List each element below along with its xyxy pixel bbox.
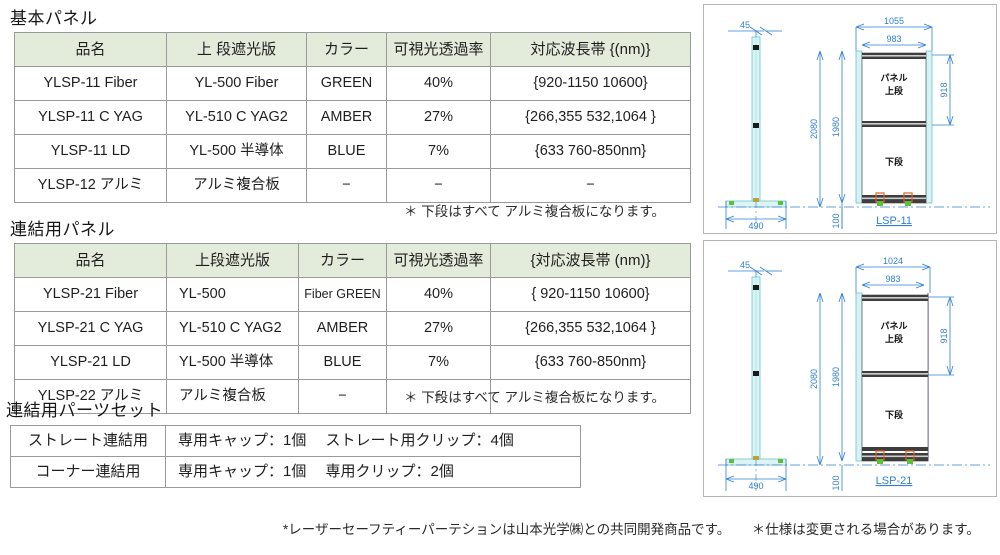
dim-side-base-width: 490: [748, 221, 763, 231]
lower-panel-label: 下段: [885, 156, 904, 167]
spec-tables-column: 基本パネル 品名 上 段遮光版 カラー 可視光透過率 対応波長帯 {(nm)} …: [0, 0, 700, 555]
basic-panel-table: 品名 上 段遮光版 カラー 可視光透過率 対応波長帯 {(nm)} YLSP-1…: [14, 32, 691, 203]
cell-name: YLSP-12 アルミ: [15, 169, 167, 203]
drawing-label-lsp-11: LSP-11: [876, 215, 912, 227]
cell-color: GREEN: [307, 67, 387, 101]
upper-panel-label-line2: 上段: [885, 85, 904, 96]
dim-total-height: 2080: [809, 369, 819, 389]
dim-inner-width: 983: [886, 34, 901, 44]
dim-total-height: 2080: [809, 119, 819, 139]
cell-name: YLSP-11 Fiber: [15, 67, 167, 101]
column-header-color: カラー: [307, 33, 387, 67]
table-row: YLSP-21 LD YL-500 半導体 BLUE 7% {633 760-8…: [15, 346, 691, 380]
dim-side-thickness: 45: [740, 260, 750, 270]
cell-color: AMBER: [307, 101, 387, 135]
dim-upper-panel-height: 918: [939, 328, 949, 343]
table-row: YLSP-21 C YAG YL-510 C YAG2 AMBER 27% {2…: [15, 312, 691, 346]
cell-wavelength: {633 760-850nm}: [491, 135, 691, 169]
cell-name: YLSP-11 C YAG: [15, 101, 167, 135]
linking-panel-title: 連結用パネル: [10, 215, 115, 240]
table-row: YLSP-11 LD YL-500 半導体 BLUE 7% {633 760-8…: [15, 135, 691, 169]
footer-note-collab: *レーザーセーフティーパーテションは山本光学㈱との共同開発商品です。: [283, 522, 730, 537]
drawing-panel-lsp-21: 45 490 1024 983 2080 1980 918 100 LSP-21…: [703, 240, 997, 497]
dim-upper-panel-height: 918: [939, 82, 949, 97]
column-header-vlt: 可視光透過率: [387, 33, 491, 67]
cell-shade: YL-510 C YAG2: [167, 312, 299, 346]
cell-wavelength: { 920-1150 10600}: [491, 278, 691, 312]
dim-outer-width: 1024: [883, 256, 903, 266]
column-header-wavelength: 対応波長帯 {(nm)}: [491, 33, 691, 67]
drawing-lsp-21-svg: 45 490 1024 983 2080 1980 918 100 LSP-21…: [704, 241, 996, 496]
cell-vlt: −: [387, 169, 491, 203]
drawing-panel-lsp-11: 45 490 1055 983 2080 1980 918 100 LSP-11…: [703, 4, 997, 234]
linking-panel-note: ＊ 下段はすべて アルミ複合板になります。: [404, 386, 665, 406]
cell-vlt: 7%: [387, 135, 491, 169]
cell-parts-contents: 専用キャップ：1個 専用クリップ：2個: [166, 457, 581, 488]
column-header-name: 品名: [15, 244, 167, 278]
cell-wavelength: −: [491, 169, 691, 203]
cell-parts-type: ストレート連結用: [11, 426, 166, 457]
column-header-wavelength: {対応波長帯 (nm)}: [491, 244, 691, 278]
column-header-color: カラー: [299, 244, 387, 278]
column-header-shade: 上 段遮光版: [167, 33, 307, 67]
table-header-row: 品名 上段遮光版 カラー 可視光透過率 {対応波長帯 (nm)}: [15, 244, 691, 278]
cell-shade: アルミ複合板: [167, 380, 299, 414]
cell-vlt: 7%: [387, 346, 491, 380]
cell-shade: YL-510 C YAG2: [167, 101, 307, 135]
footer-notes: *レーザーセーフティーパーテションは山本光学㈱との共同開発商品です。 ＊仕様は変…: [283, 518, 980, 538]
cell-color: AMBER: [299, 312, 387, 346]
cell-parts-type: コーナー連結用: [11, 457, 166, 488]
dim-foot-height: 100: [831, 213, 841, 228]
cell-vlt: 40%: [387, 67, 491, 101]
table-row: YLSP-21 Fiber YL-500 Fiber GREEN 40% { 9…: [15, 278, 691, 312]
table-row: YLSP-11 Fiber YL-500 Fiber GREEN 40% {92…: [15, 67, 691, 101]
dim-panel-height: 1980: [831, 367, 841, 387]
table-row: ストレート連結用 専用キャップ：1個 ストレート用クリップ：4個: [11, 426, 581, 457]
cell-wavelength: {633 760-850nm}: [491, 346, 691, 380]
cell-color: −: [307, 169, 387, 203]
column-header-shade: 上段遮光版: [167, 244, 299, 278]
drawing-lsp-11-svg: 45 490 1055 983 2080 1980 918 100 LSP-11…: [704, 5, 996, 233]
cell-name: YLSP-21 C YAG: [15, 312, 167, 346]
cell-vlt: 27%: [387, 312, 491, 346]
parts-set-table: ストレート連結用 専用キャップ：1個 ストレート用クリップ：4個 コーナー連結用…: [10, 425, 581, 488]
cell-shade: YL-500 半導体: [167, 346, 299, 380]
dim-inner-width: 983: [885, 274, 900, 284]
cell-wavelength: {266,355 532,1064 }: [491, 101, 691, 135]
cell-shade: YL-500: [167, 278, 299, 312]
dim-panel-height: 1980: [831, 117, 841, 137]
cell-color: BLUE: [299, 346, 387, 380]
parts-set-title: 連結用パーツセット: [6, 396, 163, 421]
basic-panel-note: ＊ 下段はすべて アルミ複合板になります。: [404, 200, 665, 220]
cell-color: −: [299, 380, 387, 414]
upper-panel-label-line1: パネル: [880, 72, 907, 83]
cell-wavelength: {920-1150 10600}: [491, 67, 691, 101]
upper-panel-label-line2: 上段: [885, 333, 904, 344]
footer-note-spec-change: ＊仕様は変更される場合があります。: [752, 522, 980, 537]
product-spec-sheet: 基本パネル 品名 上 段遮光版 カラー 可視光透過率 対応波長帯 {(nm)} …: [0, 0, 1000, 555]
cell-parts-contents: 専用キャップ：1個 ストレート用クリップ：4個: [166, 426, 581, 457]
upper-panel-label-line1: パネル: [880, 320, 907, 331]
column-header-name: 品名: [15, 33, 167, 67]
cell-name: YLSP-21 LD: [15, 346, 167, 380]
table-header-row: 品名 上 段遮光版 カラー 可視光透過率 対応波長帯 {(nm)}: [15, 33, 691, 67]
column-header-vlt: 可視光透過率: [387, 244, 491, 278]
dim-foot-height: 100: [831, 475, 841, 490]
dim-outer-width: 1055: [884, 16, 904, 26]
cell-name: YLSP-11 LD: [15, 135, 167, 169]
table-row: コーナー連結用 専用キャップ：1個 専用クリップ：2個: [11, 457, 581, 488]
lower-panel-label: 下段: [885, 409, 904, 420]
cell-color: BLUE: [307, 135, 387, 169]
table-row: YLSP-11 C YAG YL-510 C YAG2 AMBER 27% {2…: [15, 101, 691, 135]
cell-name: YLSP-21 Fiber: [15, 278, 167, 312]
basic-panel-title: 基本パネル: [10, 4, 98, 29]
table-row: YLSP-12 アルミ アルミ複合板 − − −: [15, 169, 691, 203]
cell-shade: YL-500 Fiber: [167, 67, 307, 101]
cell-color: Fiber GREEN: [299, 278, 387, 312]
cell-wavelength: {266,355 532,1064 }: [491, 312, 691, 346]
cell-vlt: 40%: [387, 278, 491, 312]
cell-vlt: 27%: [387, 101, 491, 135]
cell-shade: YL-500 半導体: [167, 135, 307, 169]
cell-shade: アルミ複合板: [167, 169, 307, 203]
dim-side-base-width: 490: [748, 481, 763, 491]
dim-side-thickness: 45: [740, 20, 750, 30]
drawing-label-lsp-21: LSP-21: [876, 475, 913, 487]
